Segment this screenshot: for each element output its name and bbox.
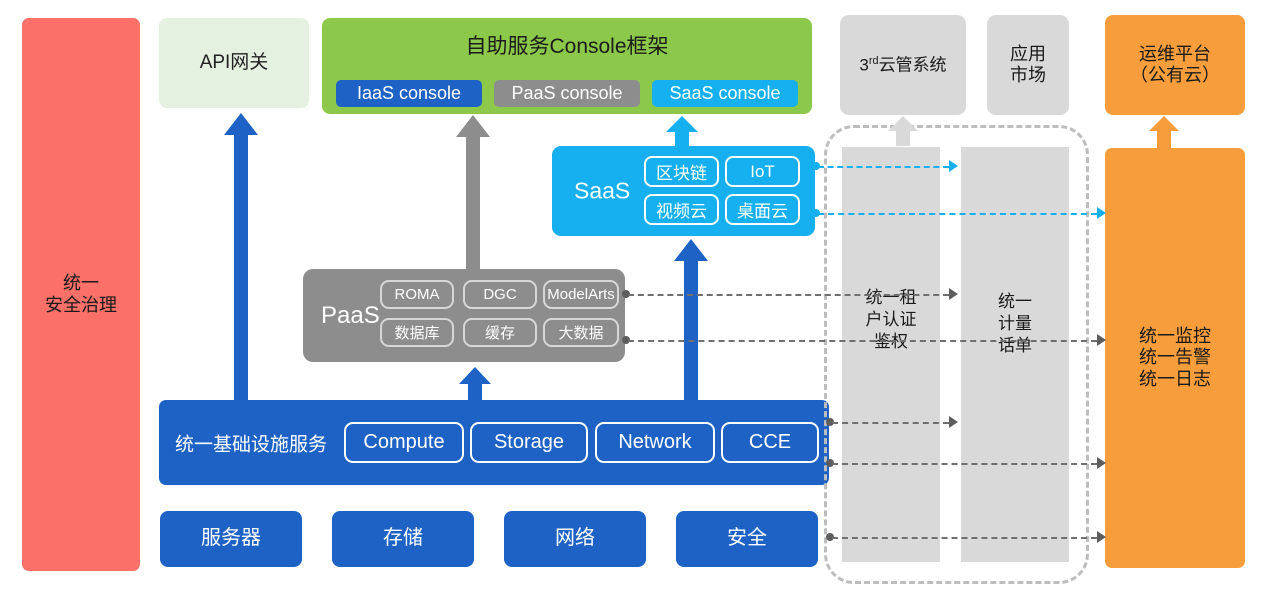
chip-paas-console[interactable]: PaaS console <box>494 80 640 107</box>
panel-app-market: 应用 市场 <box>987 15 1069 115</box>
monitoring-line2: 统一告警 <box>1139 347 1211 368</box>
monitoring-line3: 统一日志 <box>1139 369 1211 390</box>
panel-third-party-cloud-mgmt: 3rd云管系统 <box>840 15 966 115</box>
saas-tag-iot-label: IoT <box>750 162 775 182</box>
panel-unified-infrastructure: 统一基础设施服务 Compute Storage Network CCE <box>159 400 829 485</box>
saas-tag-blockchain-label: 区块链 <box>656 159 707 184</box>
monitoring-line1: 统一监控 <box>1139 326 1211 347</box>
arrowhead-hardware-to-monitoring <box>1097 531 1106 543</box>
paas-tag-modelarts[interactable]: ModelArts <box>543 280 619 309</box>
dashed-line-saas-to-monitoring <box>818 213 1097 215</box>
infra-tag-cce[interactable]: CCE <box>721 422 819 463</box>
dashed-line-hardware-to-monitoring <box>832 537 1097 539</box>
console-frame-title: 自助服务Console框架 <box>322 30 812 60</box>
chip-iaas-console[interactable]: IaaS console <box>336 80 482 107</box>
infra-tag-compute-label: Compute <box>363 431 444 454</box>
hardware-item-network-label: 网络 <box>555 527 595 551</box>
infra-tag-storage-label: Storage <box>494 431 564 454</box>
paas-tag-roma[interactable]: ROMA <box>380 280 454 309</box>
app-market-line1: 应用 <box>1010 44 1046 65</box>
infra-tag-network-label: Network <box>618 431 691 454</box>
hardware-item-security-label: 安全 <box>727 527 767 551</box>
auth-line3: 鉴权 <box>842 331 940 353</box>
security-label-line2: 安全治理 <box>45 295 117 316</box>
paas-tag-database[interactable]: 数据库 <box>380 318 454 347</box>
metering-line3: 话单 <box>961 335 1069 357</box>
column-unified-metering-billing-label: 统一 计量 话单 <box>961 291 1069 357</box>
saas-tag-video-cloud-label: 视频云 <box>656 197 707 222</box>
third-party-label: 3rd云管系统 <box>859 55 946 76</box>
chip-iaas-console-label: IaaS console <box>357 83 461 104</box>
auth-line2: 户认证 <box>842 309 940 331</box>
panel-unified-security-governance: 统一 安全治理 <box>22 18 140 571</box>
arrow-infra-to-api-gateway <box>224 113 258 403</box>
hardware-item-security: 安全 <box>676 511 818 567</box>
panel-api-gateway: API网关 <box>159 18 309 108</box>
hardware-item-server: 服务器 <box>160 511 302 567</box>
paas-tag-modelarts-label: ModelArts <box>547 286 615 303</box>
ops-platform-line2: （公有云） <box>1130 65 1220 86</box>
saas-tag-iot[interactable]: IoT <box>725 156 800 187</box>
paas-tag-database-label: 数据库 <box>394 322 439 343</box>
saas-tag-desktop-cloud-label: 桌面云 <box>737 197 788 222</box>
infrastructure-label: 统一基础设施服务 <box>175 429 327 456</box>
ops-platform-line1: 运维平台 <box>1139 44 1211 65</box>
hardware-item-storage-label: 存储 <box>383 527 423 551</box>
hardware-item-server-label: 服务器 <box>201 527 261 551</box>
paas-tag-bigdata-label: 大数据 <box>558 322 603 343</box>
saas-tag-desktop-cloud[interactable]: 桌面云 <box>725 194 800 225</box>
paas-tag-cache-label: 缓存 <box>485 322 515 343</box>
arrowhead-saas-to-monitoring <box>1097 207 1106 219</box>
dashed-line-infra-to-monitoring <box>832 463 1097 465</box>
paas-tag-cache[interactable]: 缓存 <box>463 318 537 347</box>
auth-line1: 统一租 <box>842 287 940 309</box>
panel-self-service-console-frame: 自助服务Console框架 IaaS console PaaS console … <box>322 18 812 114</box>
paas-tag-dgc-label: DGC <box>483 286 516 303</box>
hardware-item-network: 网络 <box>504 511 646 567</box>
paas-tag-bigdata[interactable]: 大数据 <box>543 318 619 347</box>
security-label-line1: 统一 <box>63 273 99 294</box>
saas-tag-blockchain[interactable]: 区块链 <box>644 156 719 187</box>
arrow-saas-to-console <box>666 116 698 148</box>
panel-unified-monitoring: 统一监控 统一告警 统一日志 <box>1105 148 1245 568</box>
panel-paas: PaaS ROMA DGC ModelArts 数据库 缓存 大数据 <box>303 269 625 362</box>
architecture-diagram: 统一 安全治理 API网关 自助服务Console框架 IaaS console… <box>0 0 1265 605</box>
paas-label: PaaS <box>321 302 380 330</box>
infra-tag-storage[interactable]: Storage <box>470 422 588 463</box>
arrowhead-infra-to-auth <box>949 416 958 428</box>
panel-saas: SaaS 区块链 IoT 视频云 桌面云 <box>552 146 815 236</box>
dashed-line-paas-to-auth <box>628 294 949 296</box>
metering-line1: 统一 <box>961 291 1069 313</box>
chip-saas-console-label: SaaS console <box>669 83 780 104</box>
arrow-middle-to-third-party <box>888 116 918 146</box>
column-unified-tenant-auth-label: 统一租 户认证 鉴权 <box>842 287 940 353</box>
arrowhead-infra-to-monitoring <box>1097 457 1106 469</box>
panel-ops-platform: 运维平台 （公有云） <box>1105 15 1245 115</box>
chip-paas-console-label: PaaS console <box>511 83 622 104</box>
metering-line2: 计量 <box>961 313 1069 335</box>
arrowhead-paas-to-monitoring <box>1097 334 1106 346</box>
saas-label: SaaS <box>574 178 630 205</box>
arrow-infra-to-saas <box>674 239 708 401</box>
arrowhead-paas-to-auth <box>949 288 958 300</box>
arrow-infra-to-paas <box>459 367 491 401</box>
column-unified-metering-billing: 统一 计量 话单 <box>961 147 1069 562</box>
arrowhead-saas-to-auth <box>949 160 958 172</box>
infra-tag-compute[interactable]: Compute <box>344 422 464 463</box>
column-unified-tenant-auth: 统一租 户认证 鉴权 <box>842 147 940 562</box>
arrow-paas-to-console <box>456 115 490 271</box>
paas-tag-roma-label: ROMA <box>395 286 440 303</box>
dashed-line-saas-to-auth <box>818 166 949 168</box>
infra-tag-cce-label: CCE <box>749 431 791 454</box>
saas-tag-video-cloud[interactable]: 视频云 <box>644 194 719 225</box>
chip-saas-console[interactable]: SaaS console <box>652 80 798 107</box>
arrow-monitoring-to-ops-platform <box>1149 116 1179 148</box>
paas-tag-dgc[interactable]: DGC <box>463 280 537 309</box>
hardware-item-storage: 存储 <box>332 511 474 567</box>
dashed-line-infra-to-auth <box>832 422 949 424</box>
infra-tag-network[interactable]: Network <box>595 422 715 463</box>
api-gateway-label: API网关 <box>200 52 269 74</box>
app-market-line2: 市场 <box>1010 65 1046 86</box>
dashed-line-paas-to-monitoring <box>628 340 1097 342</box>
